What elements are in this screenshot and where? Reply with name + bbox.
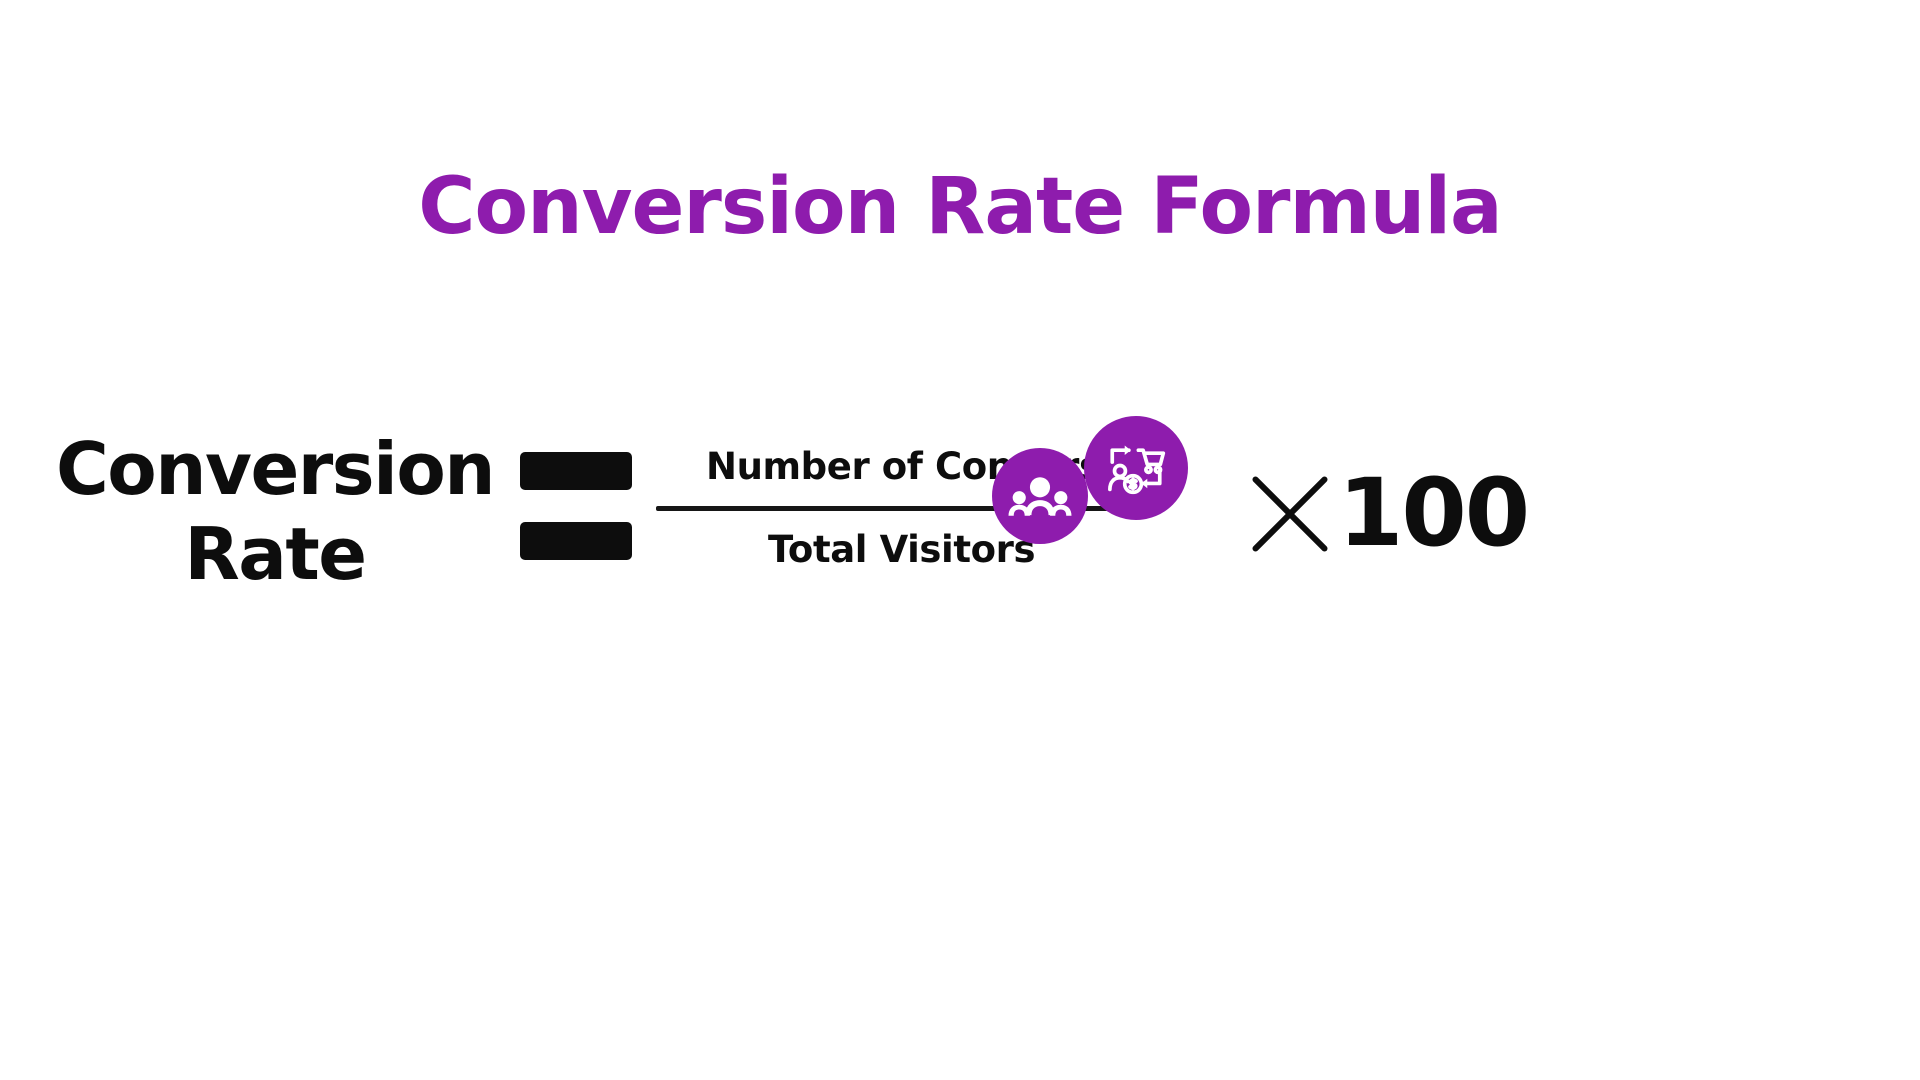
multiplier-value: 100 — [1338, 467, 1528, 561]
formula-left-label: Conversion Rate — [40, 427, 510, 597]
conversion-cycle-icon — [1084, 416, 1188, 520]
left-label-line-1: Conversion — [40, 427, 510, 512]
formula-expression: Conversion Rate Number of Conversions To… — [0, 382, 1920, 642]
equals-sign-icon — [520, 452, 632, 560]
page-title: Conversion Rate Formula — [0, 168, 1920, 246]
formula-canvas: Conversion Rate Formula Conversion Rate … — [0, 0, 1920, 1080]
equals-bar-top — [520, 452, 632, 490]
multiplier-group: 100 — [1244, 467, 1528, 561]
multiply-icon — [1244, 468, 1336, 560]
denominator-label: Total Visitors — [768, 528, 1035, 571]
equals-bar-bottom — [520, 522, 632, 560]
fraction: Number of Conversions Total Visitors — [656, 428, 1126, 589]
left-label-line-2: Rate — [40, 512, 510, 597]
people-group-icon — [992, 448, 1088, 544]
